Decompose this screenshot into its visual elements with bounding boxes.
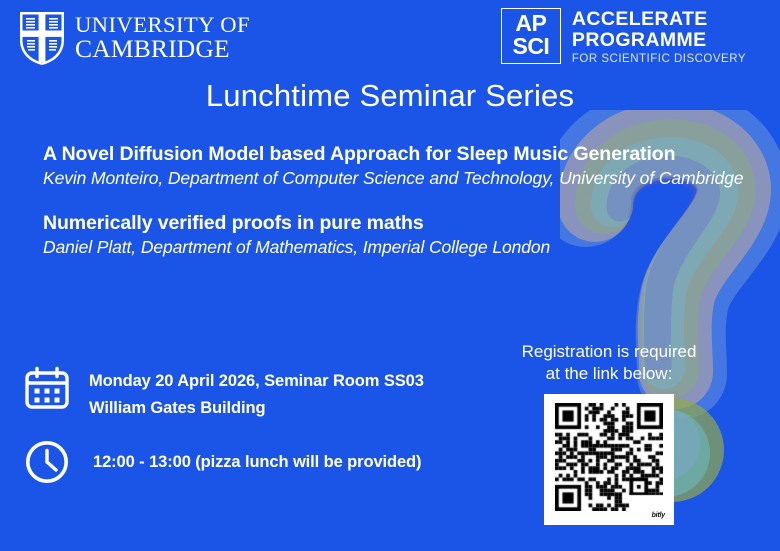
event-time-text: 12:00 - 13:00 (pizza lunch will be provi…	[89, 449, 421, 476]
registration-qr-code[interactable]: bitly	[544, 394, 674, 525]
registration-block: Registration is required at the link bel…	[500, 341, 718, 525]
qr-code-image[interactable]	[555, 403, 663, 511]
programme-tagline: FOR SCIENTIFIC DISCOVERY	[572, 51, 746, 66]
event-date-text: Monday 20 April 2026, Seminar Room SS03 …	[89, 366, 424, 422]
university-wordmark: UNIVERSITY OF CAMBRIDGE	[75, 14, 250, 63]
talk-title: A Novel Diffusion Model based Approach f…	[43, 143, 748, 166]
event-date-line-1: Monday 20 April 2026, Seminar Room SS03	[89, 368, 424, 395]
apsci-mark-icon: AP SCI	[501, 8, 561, 64]
apsci-mark-line-1: AP	[502, 11, 560, 35]
event-time-row: 12:00 - 13:00 (pizza lunch will be provi…	[24, 439, 424, 485]
event-details: Monday 20 April 2026, Seminar Room SS03 …	[24, 366, 424, 485]
talk-item: A Novel Diffusion Model based Approach f…	[43, 143, 748, 190]
poster-header: UNIVERSITY OF CAMBRIDGE AP SCI ACCELERAT…	[0, 0, 780, 74]
talk-title: Numerically verified proofs in pure math…	[43, 212, 748, 235]
qr-brand-label: bitly	[652, 512, 665, 519]
accelerate-programme-wordmark: ACCELERATE PROGRAMME FOR SCIENTIFIC DISC…	[572, 8, 746, 66]
apsci-mark-line-2: SCI	[502, 34, 560, 58]
programme-title-line-1: ACCELERATE	[572, 9, 746, 30]
page-title: Lunchtime Seminar Series	[0, 78, 780, 114]
talks-list: A Novel Diffusion Model based Approach f…	[43, 143, 748, 281]
talk-speaker: Kevin Monteiro, Department of Computer S…	[43, 167, 748, 190]
clock-icon	[24, 439, 70, 485]
event-date-row: Monday 20 April 2026, Seminar Room SS03 …	[24, 366, 424, 422]
wordmark-line-1: UNIVERSITY OF	[75, 14, 250, 37]
talk-speaker: Daniel Platt, Department of Mathematics,…	[43, 236, 748, 259]
programme-title-line-2: PROGRAMME	[572, 30, 746, 51]
registration-line-2: at the link below:	[500, 363, 718, 385]
talk-item: Numerically verified proofs in pure math…	[43, 212, 748, 259]
accelerate-programme-logo: AP SCI ACCELERATE PROGRAMME FOR SCIENTIF…	[501, 8, 746, 66]
event-date-line-2: William Gates Building	[89, 395, 424, 422]
registration-line-1: Registration is required	[500, 341, 718, 363]
university-of-cambridge-logo: UNIVERSITY OF CAMBRIDGE	[18, 10, 250, 66]
seminar-poster: UNIVERSITY OF CAMBRIDGE AP SCI ACCELERAT…	[0, 0, 780, 551]
wordmark-line-2: CAMBRIDGE	[75, 36, 250, 62]
cambridge-crest-icon	[18, 10, 66, 66]
calendar-icon	[24, 366, 70, 412]
